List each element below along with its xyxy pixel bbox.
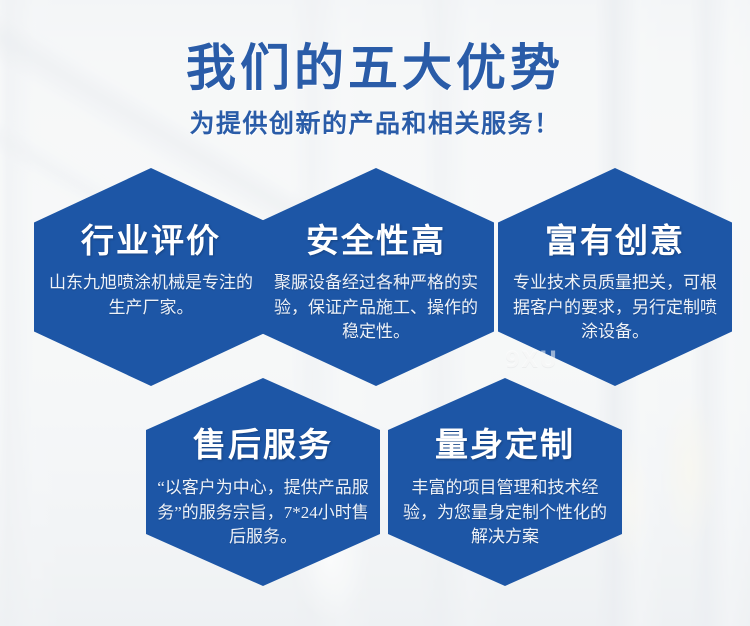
- advantage-title: 行业评价: [81, 214, 221, 262]
- advantages-banner: 我们的五大优势 为提供创新的产品和相关服务！ 行业评价 山东九旭喷涂机械是专注的…: [0, 0, 750, 626]
- advantage-description: 聚脲设备经过各种严格的实验，保证产品施工、操作的稳定性。: [273, 271, 479, 345]
- heading-block: 我们的五大优势 为提供创新的产品和相关服务！: [0, 40, 750, 140]
- advantage-title: 安全性高: [306, 214, 446, 262]
- advantage-description: 专业技术员质量把关，可根据客户的要求，另行定制喷涂设备。: [512, 271, 718, 345]
- advantage-title: 量身定制: [435, 418, 575, 466]
- advantage-description: 丰富的项目管理和技术经验，为您量身定制个性化的解决方案: [399, 476, 611, 550]
- page-subtitle: 为提供创新的产品和相关服务！: [0, 104, 750, 140]
- advantage-description: 山东九旭喷涂机械是专注的生产厂家。: [48, 271, 254, 320]
- advantage-description: “以客户为中心，提供产品服务”的服务宗旨，7*24小时售后服务。: [157, 476, 369, 550]
- page-title: 我们的五大优势: [0, 40, 750, 96]
- advantage-title: 富有创意: [545, 214, 685, 262]
- advantage-title: 售后服务: [193, 418, 333, 466]
